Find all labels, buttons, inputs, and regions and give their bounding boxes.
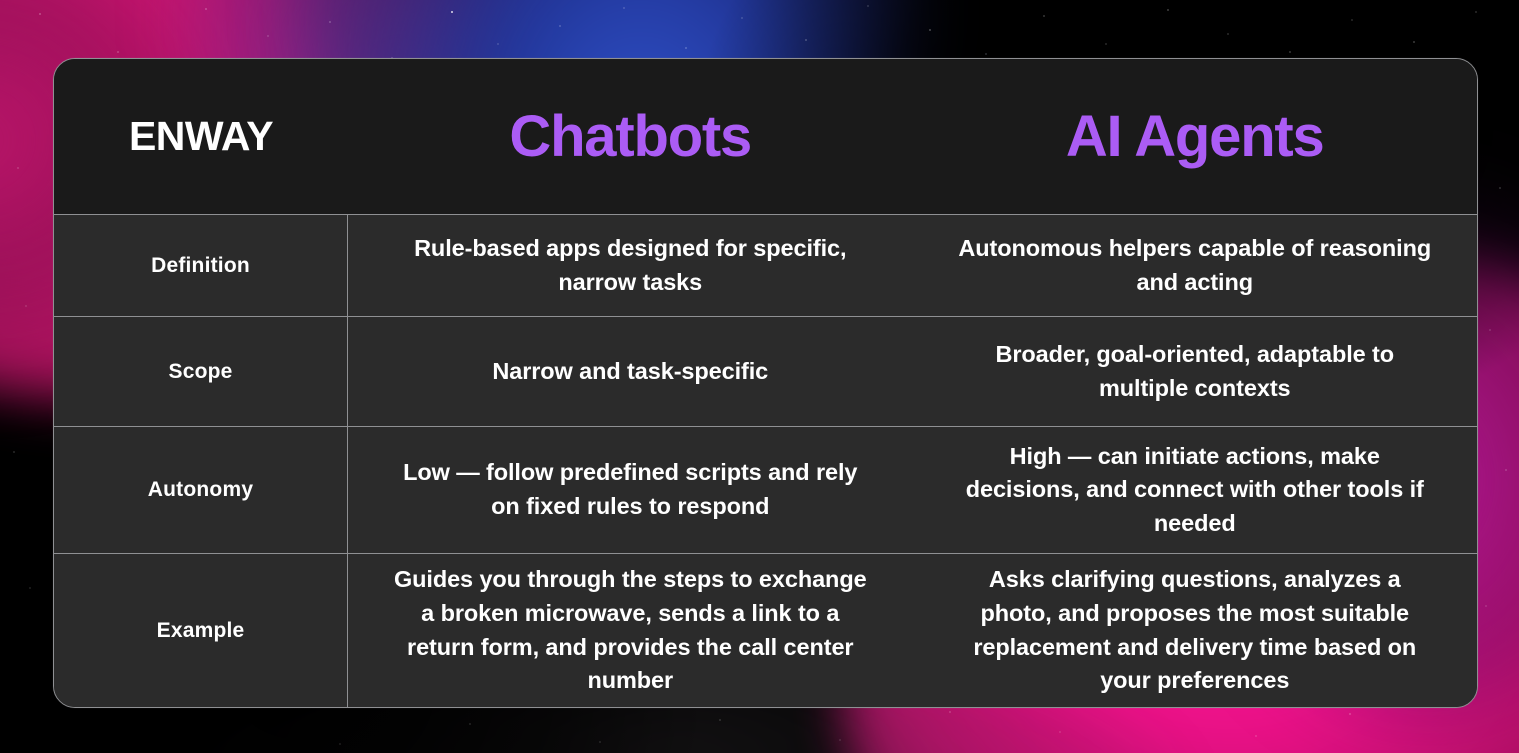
enway-logo: ENWAY (129, 113, 273, 160)
column-header-chatbots: Chatbots (348, 59, 913, 214)
cell-definition-agents: Autonomous helpers capable of reasoning … (913, 215, 1478, 316)
cell-example-agents: Asks clarifying questions, analyzes a ph… (913, 554, 1478, 707)
row-label-definition: Definition (54, 215, 348, 316)
comparison-table-card: ENWAY Chatbots AI Agents Definition Rule… (53, 58, 1478, 708)
table-row: Scope Narrow and task-specific Broader, … (54, 316, 1477, 426)
cell-scope-agents: Broader, goal-oriented, adaptable to mul… (913, 317, 1478, 426)
brand-cell: ENWAY (54, 59, 348, 214)
comparison-table: ENWAY Chatbots AI Agents Definition Rule… (54, 59, 1477, 707)
row-label-autonomy: Autonomy (54, 427, 348, 553)
table-row: Definition Rule-based apps designed for … (54, 215, 1477, 316)
cell-example-chatbots: Guides you through the steps to exchange… (348, 554, 913, 707)
cell-definition-chatbots: Rule-based apps designed for specific, n… (348, 215, 913, 316)
row-label-scope: Scope (54, 317, 348, 426)
row-label-example: Example (54, 554, 348, 707)
column-header-ai-agents: AI Agents (913, 59, 1478, 214)
cell-scope-chatbots: Narrow and task-specific (348, 317, 913, 426)
cell-autonomy-agents: High — can initiate actions, make decisi… (913, 427, 1478, 553)
table-row: Example Guides you through the steps to … (54, 553, 1477, 707)
cell-autonomy-chatbots: Low — follow predefined scripts and rely… (348, 427, 913, 553)
table-row: Autonomy Low — follow predefined scripts… (54, 426, 1477, 553)
table-header-row: ENWAY Chatbots AI Agents (54, 59, 1477, 215)
